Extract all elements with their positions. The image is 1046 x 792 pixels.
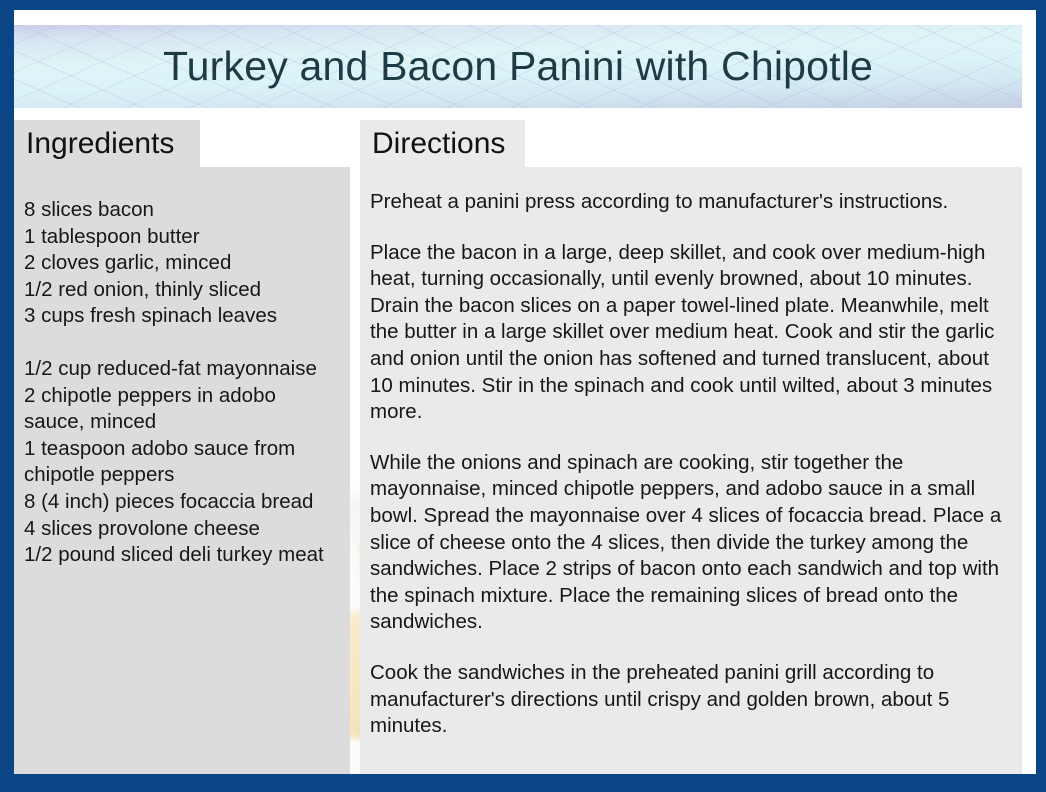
title-banner: Turkey and Bacon Panini with Chipotle	[14, 25, 1022, 108]
list-item: 3 cups fresh spinach leaves	[24, 303, 340, 330]
ingredients-list: 8 slices bacon 1 tablespoon butter 2 clo…	[24, 197, 340, 569]
list-item: 1/2 pound sliced deli turkey meat	[24, 542, 340, 569]
directions-panel: Directions Preheat a panini press accord…	[360, 120, 1022, 774]
directions-body: Preheat a panini press according to manu…	[360, 167, 1022, 774]
recipe-slide: Turkey and Bacon Panini with Chipotle	[0, 0, 1046, 792]
list-item: 1/2 cup reduced-fat mayonnaise	[24, 356, 340, 383]
directions-heading: Directions	[372, 127, 505, 161]
direction-step: Preheat a panini press according to manu…	[370, 189, 1008, 216]
direction-step: While the onions and spinach are cooking…	[370, 450, 1008, 636]
slide-content-area: Turkey and Bacon Panini with Chipotle	[14, 10, 1036, 774]
direction-step: Cook the sandwiches in the preheated pan…	[370, 660, 1008, 740]
list-spacer	[24, 330, 340, 356]
list-item: 1 teaspoon adobo sauce from chipotle pep…	[24, 436, 340, 489]
page-title: Turkey and Bacon Panini with Chipotle	[163, 43, 873, 90]
directions-header: Directions	[360, 120, 525, 167]
ingredients-header: Ingredients	[14, 120, 200, 167]
list-item: 1/2 red onion, thinly sliced	[24, 277, 340, 304]
list-item: 2 cloves garlic, minced	[24, 250, 340, 277]
ingredients-heading: Ingredients	[26, 127, 174, 161]
content-columns: Ingredients 8 slices bacon 1 tablespoon …	[14, 120, 1036, 774]
list-item: 1 tablespoon butter	[24, 224, 340, 251]
list-item: 8 slices bacon	[24, 197, 340, 224]
direction-step: Place the bacon in a large, deep skillet…	[370, 240, 1008, 426]
ingredients-panel: Ingredients 8 slices bacon 1 tablespoon …	[14, 120, 350, 774]
list-item: 8 (4 inch) pieces focaccia bread	[24, 489, 340, 516]
list-item: 4 slices provolone cheese	[24, 516, 340, 543]
list-item: 2 chipotle peppers in adobo sauce, mince…	[24, 383, 340, 436]
ingredients-body: 8 slices bacon 1 tablespoon butter 2 clo…	[14, 167, 350, 774]
